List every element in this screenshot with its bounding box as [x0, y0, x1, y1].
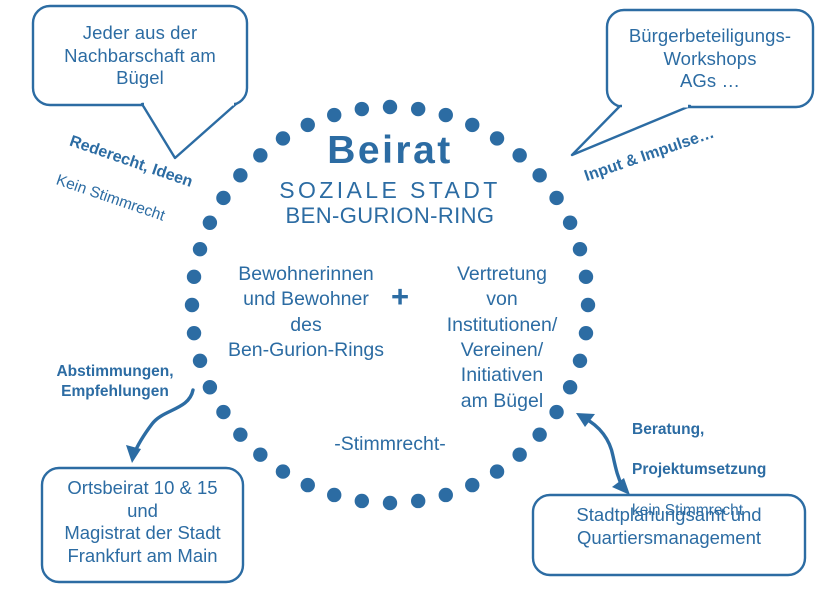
circle-dot-icon — [233, 427, 247, 441]
circle-dot-icon — [439, 108, 453, 122]
circle-dot-icon — [549, 191, 563, 205]
bubble-text-participation: Bürgerbeteiligungs- Workshops AGs … — [609, 25, 811, 93]
circle-dot-icon — [439, 488, 453, 502]
voting-rights-note: -Stimmrecht- — [290, 433, 490, 457]
caption-beratung-line1: Beratung, — [632, 420, 812, 440]
circle-dot-icon — [187, 270, 201, 284]
member-group-institutions: Vertretung von Institutionen/ Vereinen/ … — [422, 262, 582, 414]
circle-dot-icon — [301, 478, 315, 492]
circle-dot-icon — [465, 478, 479, 492]
circle-dot-icon — [383, 496, 397, 510]
arrowhead-lower-right — [612, 478, 630, 495]
bubble-text-neighbourhood: Jeder aus der Nachbarschaft am Bügel — [36, 22, 244, 90]
circle-dot-icon — [563, 216, 577, 230]
circle-dot-icon — [532, 427, 546, 441]
circle-dot-icon — [216, 405, 230, 419]
caption-beratung-line2: Projektumsetzung — [632, 460, 812, 480]
circle-dot-icon — [411, 494, 425, 508]
circle-dot-icon — [193, 354, 207, 368]
page-subtitle-1: SOZIALE STADT — [230, 176, 550, 204]
circle-dot-icon — [490, 464, 504, 478]
circle-dot-icon — [383, 100, 397, 114]
circle-dot-icon — [327, 488, 341, 502]
double-headed-curved-arrow-icon-stadtplanungsamt — [576, 413, 630, 495]
diagram-canvas: Jeder aus der Nachbarschaft am Bügel Bür… — [0, 0, 820, 600]
circle-dot-icon — [203, 380, 217, 394]
circle-dot-icon — [253, 447, 267, 461]
circle-dot-icon — [573, 242, 587, 256]
circle-dot-icon — [512, 447, 526, 461]
caption-beratung-line3: kein Stimmrecht — [632, 501, 812, 521]
circle-dot-icon — [185, 298, 199, 312]
box-text-ortsbeirat: Ortsbeirat 10 & 15 und Magistrat der Sta… — [44, 477, 241, 567]
page-subtitle-2: BEN-GURION-RING — [230, 203, 550, 230]
circle-dot-icon — [355, 102, 369, 116]
circle-dot-icon — [355, 494, 369, 508]
page-title: Beirat — [240, 127, 540, 175]
plus-separator: + — [386, 278, 414, 316]
connector-caption-beratung: Beratung, Projektumsetzung kein Stimmrec… — [632, 400, 812, 541]
circle-dot-icon — [276, 464, 290, 478]
circle-dot-icon — [327, 108, 341, 122]
connector-caption-abstimmungen: Abstimmungen, Empfehlungen — [40, 362, 190, 402]
circle-dot-icon — [581, 298, 595, 312]
member-group-residents: Bewohnerinnen und Bewohner des Ben-Gurio… — [216, 262, 396, 363]
circle-dot-icon — [187, 326, 201, 340]
circle-dot-icon — [411, 102, 425, 116]
